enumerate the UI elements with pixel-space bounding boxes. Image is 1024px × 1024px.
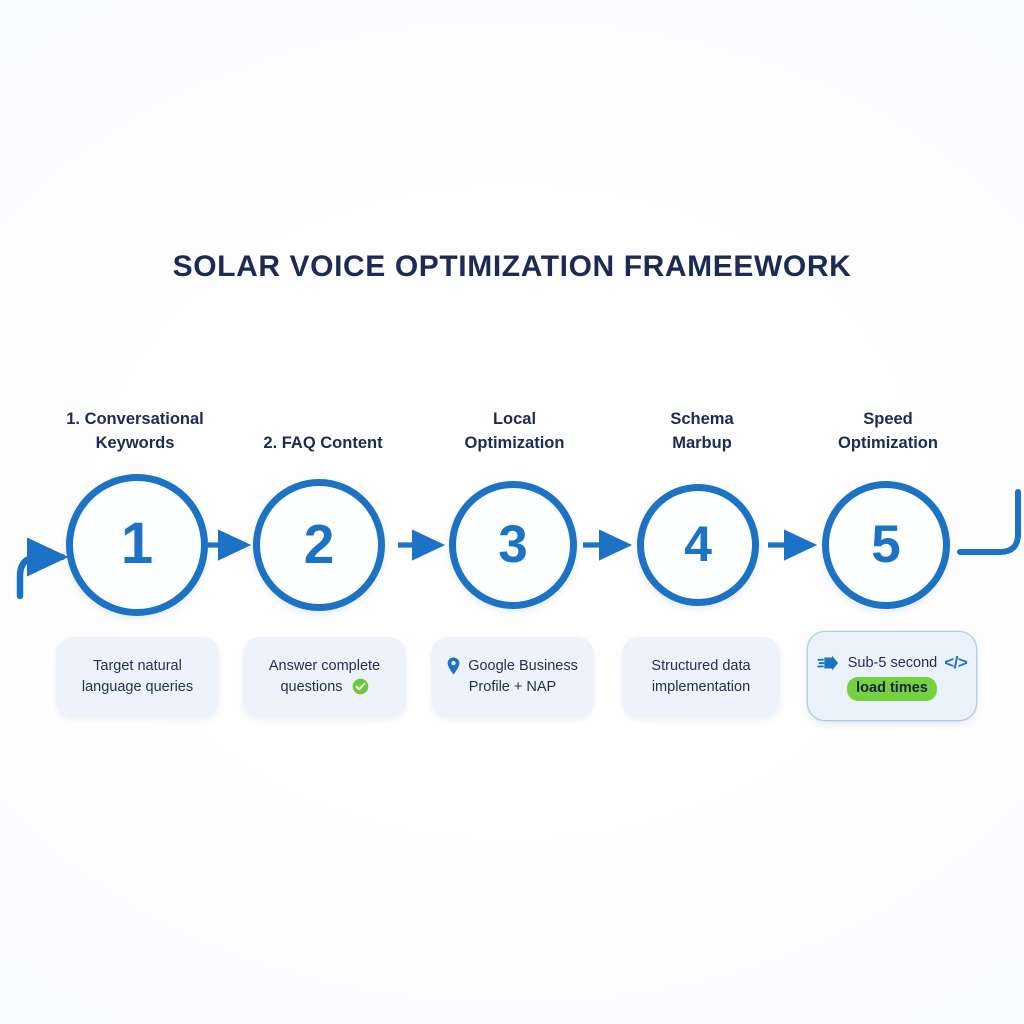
entry-connector <box>20 557 62 596</box>
step-circle-4[interactable]: 4 <box>637 484 759 606</box>
step-card-3-text: Google Business Profile + NAP <box>447 656 578 697</box>
step-label-4: Schema Marbup <box>613 408 791 456</box>
step-card-5-line1: Sub-5 second <box>848 655 937 671</box>
step-card-3[interactable]: Google Business Profile + NAP <box>431 637 594 717</box>
step-card-5-highlight: load times <box>847 677 937 701</box>
step-card-5[interactable]: Sub-5 second </> load times <box>808 632 976 720</box>
step-number-1: 1 <box>121 515 153 573</box>
check-circle-icon <box>352 678 369 695</box>
step-number-2: 2 <box>304 517 335 572</box>
step-card-4[interactable]: Structured data implementation <box>622 637 780 717</box>
step-label-2: 2. FAQ Content <box>228 432 418 456</box>
step-card-1-text: Target natural language queries <box>82 656 193 697</box>
code-brackets-icon: </> <box>944 651 967 675</box>
step-card-2[interactable]: Answer complete questions <box>243 637 406 717</box>
step-label-3: Local Optimization <box>423 408 606 456</box>
step-number-5: 5 <box>871 518 900 571</box>
step-card-4-line2: implementation <box>652 679 750 695</box>
step-card-4-text: Structured data implementation <box>651 656 750 697</box>
step-card-2-line2: questions <box>280 679 342 695</box>
map-pin-icon <box>447 657 460 675</box>
diagram-canvas: SOLAR VOICE OPTIMIZATION FRAMEEWORK 1. C… <box>0 0 1024 1024</box>
step-circle-1[interactable]: 1 <box>66 474 208 616</box>
speed-arrow-icon <box>817 655 839 671</box>
step-card-4-line1: Structured data <box>651 658 750 674</box>
exit-connector <box>960 492 1018 552</box>
step-card-2-line1: Answer complete <box>269 658 380 674</box>
step-card-1[interactable]: Target natural language queries <box>56 637 219 717</box>
step-card-2-text: Answer complete questions <box>269 656 380 697</box>
step-circle-5[interactable]: 5 <box>822 481 950 609</box>
step-number-4: 4 <box>684 519 712 569</box>
step-card-1-line1: Target natural <box>93 658 182 674</box>
step-label-5: Speed Optimization <box>797 408 979 456</box>
step-circle-2[interactable]: 2 <box>253 479 385 611</box>
step-card-3-line2: Profile + NAP <box>469 679 556 695</box>
step-circle-3[interactable]: 3 <box>449 481 577 609</box>
step-number-3: 3 <box>498 518 527 571</box>
step-card-3-line1: Google Business <box>468 658 578 674</box>
step-card-5-text: Sub-5 second </> load times <box>817 651 968 701</box>
step-card-1-line2: language queries <box>82 679 193 695</box>
step-label-1: 1. Conversational Keywords <box>35 408 235 456</box>
diagram-title: SOLAR VOICE OPTIMIZATION FRAMEEWORK <box>0 250 1024 284</box>
